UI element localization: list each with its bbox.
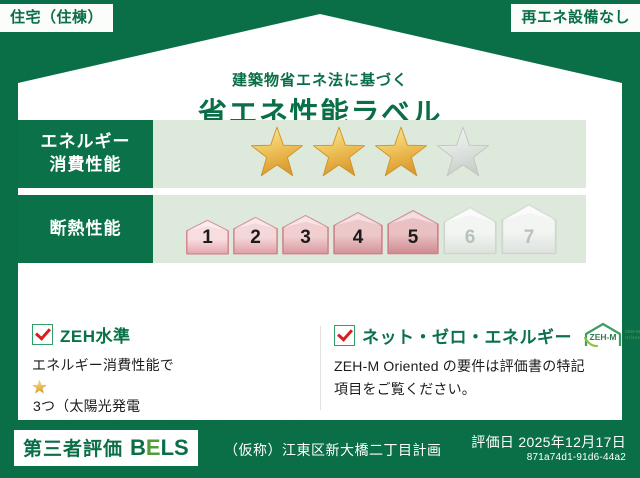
insulation-badge-7: 7 <box>500 203 558 255</box>
bels-letter-b: B <box>130 435 146 460</box>
net-zero-note-body: ZEH-M Oriented の要件は評価書の特記 項目をご覧ください。 <box>334 355 608 400</box>
zeh-m-logo-subtitle: ZEH-M Oriented <box>625 329 640 340</box>
inline-star-icon <box>32 380 47 395</box>
project-name: （仮称）江東区新大橋二丁目計画 <box>224 440 442 460</box>
footer-bar: 第三者評価 BELS （仮称）江東区新大橋二丁目計画 評価日 2025年12月1… <box>0 424 640 478</box>
net-zero-check-icon <box>334 325 355 346</box>
evaluation-id: 871a74d1-91d6-44a2 <box>527 452 626 463</box>
star-icon-filled <box>373 126 429 182</box>
evaluation-date: 評価日 2025年12月17日 <box>471 432 626 452</box>
insulation-level-badges: 1234567 <box>181 203 558 255</box>
energy-performance-row: エネルギー 消費性能 <box>18 120 586 188</box>
insulation-badge-number: 7 <box>500 227 558 249</box>
insulation-badge-number: 1 <box>185 227 230 249</box>
bels-jp-text: 第三者評価 <box>23 434 123 461</box>
net-zero-body-line1: ZEH-M Oriented の要件は評価書の特記 <box>334 358 585 374</box>
star-icon-empty <box>435 126 491 182</box>
insulation-badge-4: 4 <box>332 211 384 255</box>
zeh-note-title: ZEH水準 <box>60 322 131 347</box>
energy-label-line2: 消費性能 <box>50 154 122 177</box>
bels-en-text: BELS <box>130 435 189 461</box>
net-zero-note-header: ネット・ゼロ・エネルギー ZEH-M ZEH-M Oriented <box>334 322 608 348</box>
star-icon-filled <box>311 126 367 182</box>
insulation-badge-1: 1 <box>185 219 230 255</box>
performance-panel: エネルギー 消費性能 断熱性能 1234567 <box>18 120 586 270</box>
insulation-badge-number: 4 <box>332 227 384 249</box>
evaluation-date-label: 評価日 <box>471 434 514 450</box>
energy-performance-value <box>153 120 586 188</box>
insulation-badge-number: 6 <box>442 227 498 249</box>
insulation-badge-3: 3 <box>281 214 330 255</box>
energy-performance-label: エネルギー 消費性能 <box>18 120 153 188</box>
star-rating <box>249 126 491 182</box>
insulation-badge-number: 5 <box>386 227 440 249</box>
bels-logo: 第三者評価 BELS <box>14 430 198 466</box>
star-icon-filled <box>249 126 305 182</box>
zeh-note-header: ZEH水準 <box>32 322 306 347</box>
energy-performance-label: 住宅（住棟） 再エネ設備なし 建築物省エネ法に基づく 省エネ性能ラベル エネルギ… <box>0 0 640 478</box>
zeh-m-logo: ZEH-M ZEH-M Oriented <box>583 322 640 348</box>
insulation-performance-row: 断熱性能 1234567 <box>18 195 586 263</box>
zeh-m-logo-text: ZEH-M <box>590 332 617 342</box>
bels-letter-e: E <box>146 435 161 460</box>
insulation-badge-5: 5 <box>386 209 440 255</box>
zeh-m-house-icon: ZEH-M <box>583 322 623 348</box>
inline-star-icon <box>32 380 306 395</box>
evaluation-date-value: 2025年12月17日 <box>518 434 626 450</box>
renewable-energy-badge: 再エネ設備なし <box>511 4 640 32</box>
energy-label-line1: エネルギー <box>41 131 131 154</box>
insulation-badge-6: 6 <box>442 206 498 255</box>
zeh-body-star-count: 3つ（太陽光発電 <box>33 398 140 414</box>
net-zero-note-title: ネット・ゼロ・エネルギー <box>362 323 572 348</box>
insulation-badge-2: 2 <box>232 216 279 255</box>
building-type-badge: 住宅（住棟） <box>0 4 113 32</box>
insulation-badge-number: 3 <box>281 227 330 249</box>
insulation-label-text: 断熱性能 <box>50 218 122 241</box>
insulation-performance-value: 1234567 <box>153 195 586 263</box>
zeh-body-part1: エネルギー消費性能で <box>32 357 174 373</box>
insulation-performance-label: 断熱性能 <box>18 195 153 263</box>
bels-letter-ls: LS <box>161 435 189 460</box>
zeh-m-sub-line2: Oriented <box>625 335 640 340</box>
insulation-badge-number: 2 <box>232 227 279 249</box>
zeh-check-icon <box>32 324 53 345</box>
net-zero-body-line2: 項目をご覧ください。 <box>334 381 476 397</box>
zeh-m-sub-line1: ZEH-M <box>625 329 640 334</box>
